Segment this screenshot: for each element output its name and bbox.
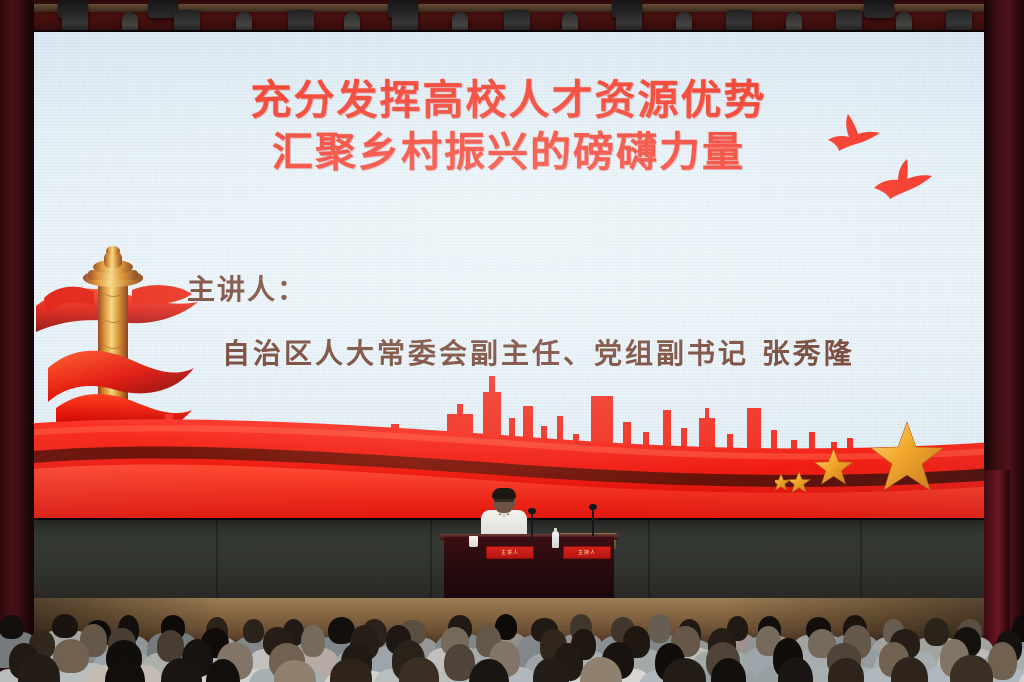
slide-vignette: [22, 32, 995, 518]
audience-person-head: [648, 614, 672, 643]
nameplate-text: 主讲人: [501, 549, 519, 556]
wall-seam: [430, 505, 432, 600]
audience-person-head: [52, 614, 78, 638]
glasses-icon: [494, 498, 514, 502]
audience-person-head: [301, 625, 326, 657]
wall-seam: [648, 505, 650, 600]
nameplate-text: 主持人: [578, 549, 596, 556]
microphone-icon: [531, 512, 533, 542]
led-presentation-screen[interactable]: 充分发挥高校人才资源优势 汇聚乡村振兴的磅礴力量 主讲人： 自治区人大常委会副主…: [22, 32, 995, 518]
stage-light-icon: [864, 0, 894, 18]
auditorium-scene: 充分发挥高校人才资源优势 汇聚乡村振兴的磅礴力量 主讲人： 自治区人大常委会副主…: [0, 0, 1024, 682]
audience-rows: [0, 612, 1024, 682]
teacup: [469, 536, 478, 547]
audience-person-head: [243, 619, 263, 643]
water-bottle: [552, 531, 559, 548]
nameplate: 主讲人: [486, 546, 534, 559]
wall-seam: [860, 505, 862, 600]
wall-seam: [216, 505, 218, 600]
audience-person-head: [0, 615, 24, 639]
nameplate: 主持人: [563, 546, 611, 559]
stage-curtain-left: [0, 0, 34, 682]
microphone-icon: [592, 508, 594, 536]
